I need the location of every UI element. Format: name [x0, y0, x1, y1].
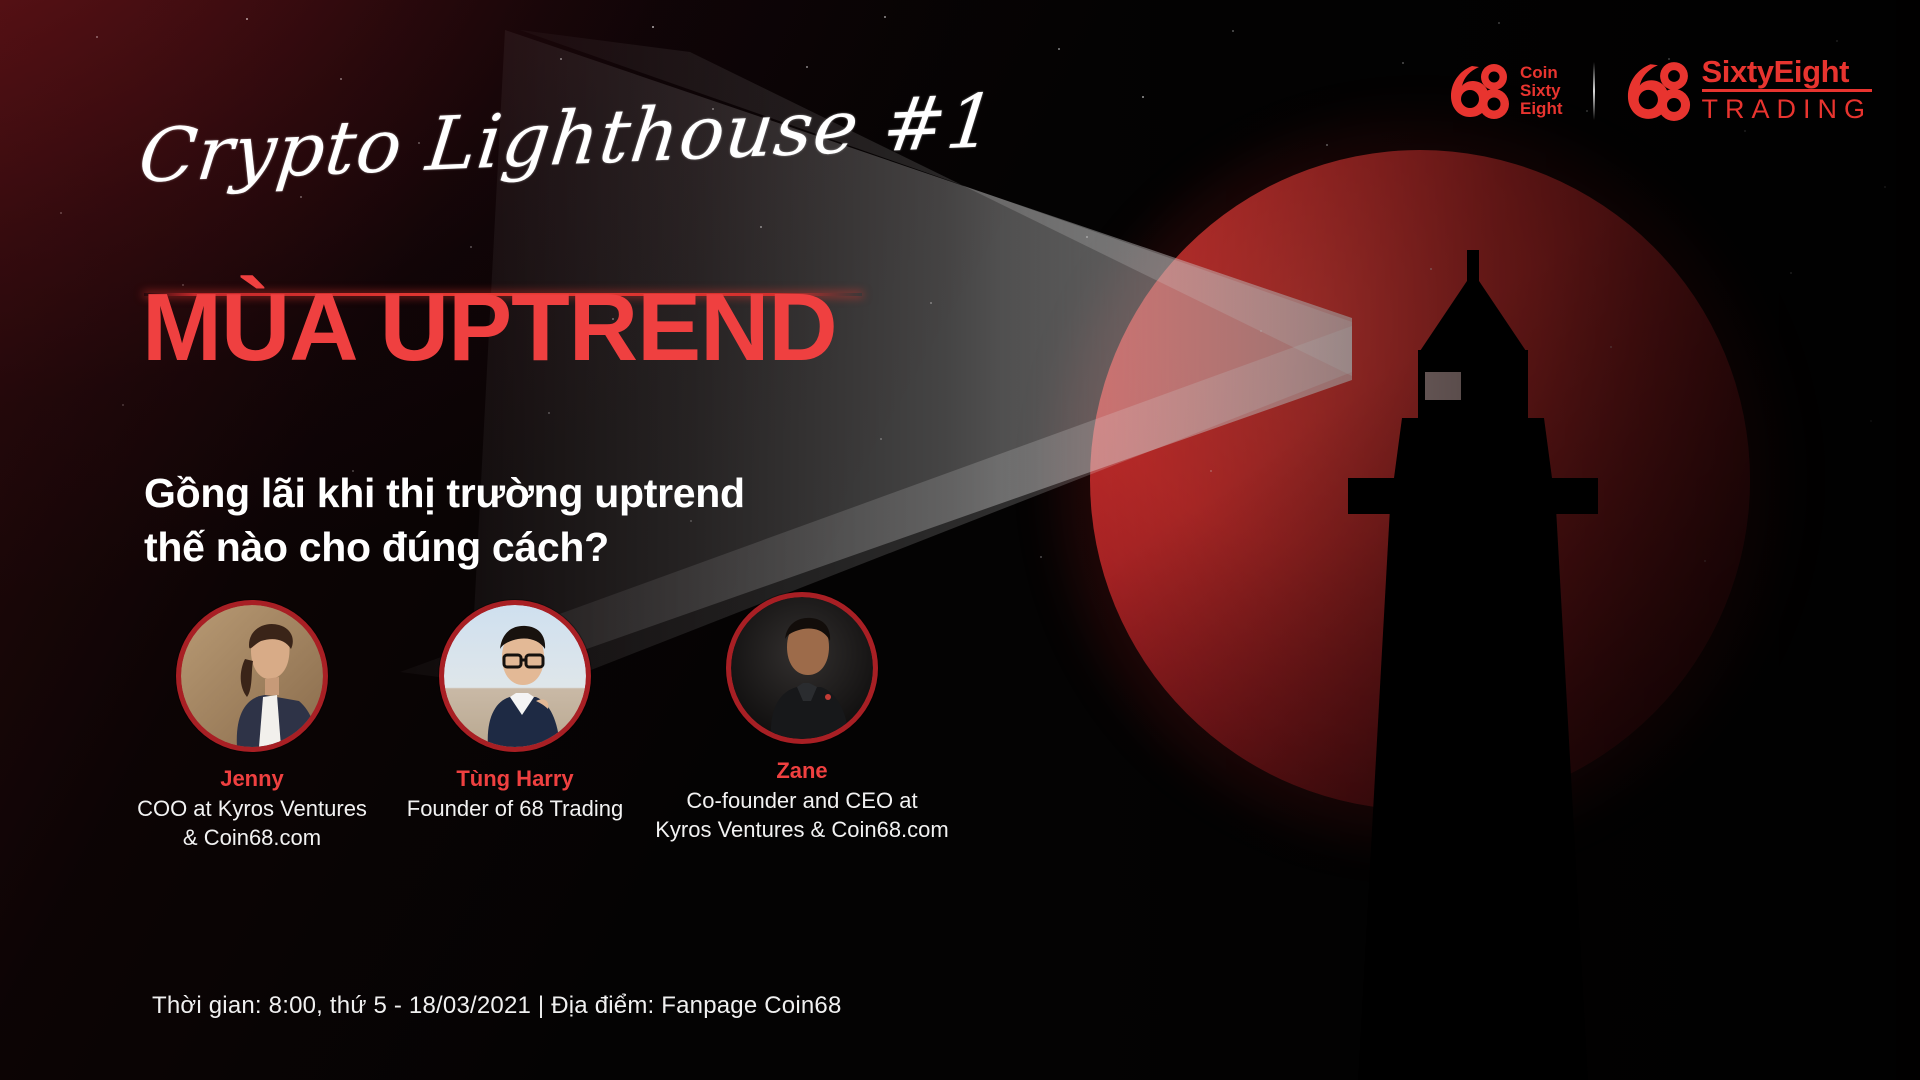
- page-title: MÙA UPTREND: [142, 278, 837, 379]
- avatar-ring: [176, 600, 328, 752]
- coin68-line3: Eight: [1520, 100, 1563, 118]
- sixtyeight-line1: SixtyEight: [1702, 56, 1873, 92]
- avatar: [181, 605, 323, 747]
- avatar: [731, 597, 873, 739]
- subheading-line-1: Gồng lãi khi thị trường uptrend: [144, 466, 745, 520]
- avatar-ring: [726, 592, 878, 744]
- speaker-role: Co-founder and CEO at Kyros Ventures & C…: [632, 786, 972, 844]
- sixtyeight-trading-logo[interactable]: SixtyEight TRADING: [1625, 56, 1873, 126]
- coin68-wordmark: Coin Sixty Eight: [1520, 64, 1563, 117]
- sixtyeight-line2: TRADING: [1702, 92, 1873, 126]
- logo-bar: Coin Sixty Eight SixtyEight TRADING: [1449, 56, 1872, 126]
- logo-divider: [1593, 62, 1595, 120]
- coin68-line2: Sixty: [1520, 82, 1563, 100]
- coin68-line1: Coin: [1520, 64, 1563, 82]
- sixtyeight-wordmark: SixtyEight TRADING: [1702, 56, 1873, 126]
- sixtyeight-trading-mark: [1625, 61, 1693, 121]
- coin-sixty-eight-mark: [1449, 63, 1511, 119]
- event-details: Thời gian: 8:00, thứ 5 - 18/03/2021 | Đị…: [152, 992, 842, 1020]
- speaker-name: Zane: [632, 758, 972, 784]
- subheading-line-2: thế nào cho đúng cách?: [144, 520, 745, 574]
- coin68-logo[interactable]: Coin Sixty Eight: [1449, 63, 1563, 119]
- speaker-card: Zane Co-founder and CEO at Kyros Venture…: [632, 592, 972, 844]
- avatar-ring: [439, 600, 591, 752]
- subheading: Gồng lãi khi thị trường uptrend thế nào …: [144, 466, 745, 574]
- poster-canvas: Coin Sixty Eight SixtyEight TRADING Cryp…: [0, 0, 1920, 1080]
- avatar: [444, 605, 586, 747]
